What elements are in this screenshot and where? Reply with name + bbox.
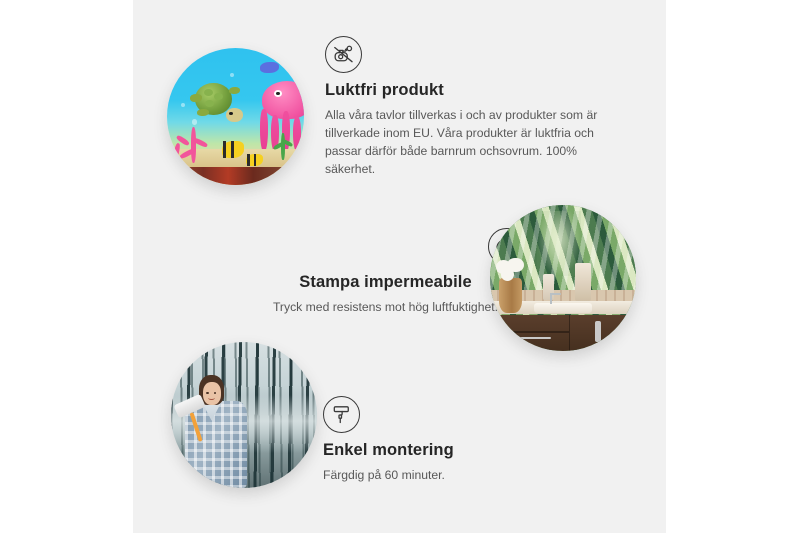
feature-montering: Enkel montering Färgdig på 60 minuter. — [323, 396, 623, 484]
face — [203, 382, 221, 405]
shell-spot — [214, 93, 223, 100]
fish-yellow — [222, 141, 244, 157]
screenshot-root: Luktfri produkt Alla våra tavlor tillver… — [0, 0, 800, 533]
image-forest-scene — [171, 342, 317, 488]
feature-body: Färgdig på 60 minuter. — [323, 466, 623, 484]
smile — [208, 396, 214, 400]
turtle-head — [226, 108, 242, 121]
turtle-flipper — [229, 87, 240, 94]
sea-floor-rocks — [167, 167, 304, 185]
bubble — [181, 103, 185, 107]
person-with-roller — [180, 374, 262, 488]
coral-green — [271, 130, 296, 160]
flowers — [491, 258, 529, 284]
feature-body: Alla våra tavlor tillverkas i och av pro… — [325, 106, 625, 178]
vanity-cabinet — [490, 315, 636, 352]
feature-title: Luktfri produkt — [325, 81, 625, 101]
sea-scene-art — [167, 48, 304, 185]
bathroom-scene-art — [490, 205, 636, 351]
turtle-flipper — [197, 109, 209, 116]
product-feature-panel: Luktfri produkt Alla våra tavlor tillver… — [133, 0, 666, 533]
shell-spot — [205, 100, 214, 107]
no-fragrance-spray-bottle-icon — [325, 36, 362, 73]
faucet — [544, 293, 564, 305]
fish-yellow — [246, 154, 262, 166]
sea-turtle — [189, 80, 244, 124]
feature-title: Enkel montering — [323, 441, 623, 461]
fish-blue — [260, 62, 279, 73]
paint-roller-icon — [323, 396, 360, 433]
coral-pink — [174, 122, 215, 163]
forest-scene-art — [171, 342, 317, 488]
feature-luktfri: Luktfri produkt Alla våra tavlor tillver… — [325, 36, 625, 178]
octopus-eye — [274, 90, 282, 97]
image-sea-scene — [167, 48, 304, 185]
image-bathroom-scene — [490, 205, 636, 351]
towel-roll — [575, 263, 591, 301]
octopus-arm — [260, 109, 268, 152]
bubble — [230, 73, 234, 77]
sink-basin — [534, 303, 592, 313]
